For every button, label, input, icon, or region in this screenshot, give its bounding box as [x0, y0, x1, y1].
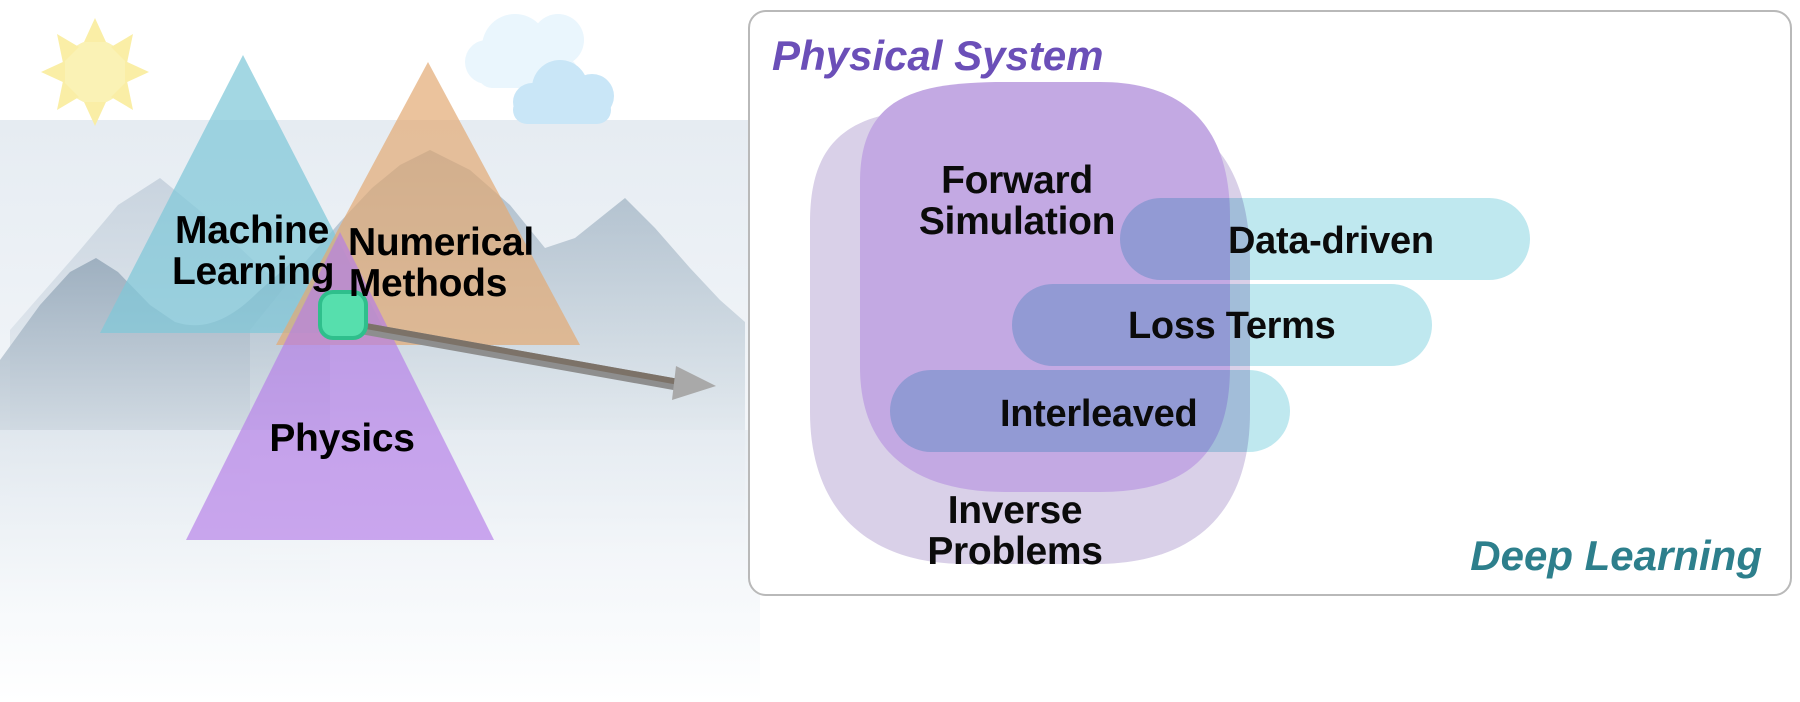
blob-label-forward-simulation: Forward Simulation — [902, 160, 1132, 243]
pill-label-interleaved: Interleaved — [1000, 395, 1197, 433]
physical-system-panel: Physical System Forward Simulation Inver… — [748, 10, 1792, 596]
pill-label-loss-terms: Loss Terms — [1128, 307, 1336, 345]
panel-title: Physical System — [772, 32, 1104, 80]
triangle-label-physics: Physics — [262, 418, 422, 459]
scene-canvas — [0, 0, 760, 702]
blob-label-inverse-problems: Inverse Problems — [900, 490, 1130, 573]
panel-canvas: Physical System Forward Simulation Inver… — [750, 12, 1790, 594]
sun-icon — [41, 18, 149, 126]
triangle-label-numerical-methods: Numerical Methods — [348, 222, 508, 305]
figure-root: Machine Learning Numerical Methods Physi… — [0, 0, 1800, 702]
nature-scene: Machine Learning Numerical Methods Physi… — [0, 0, 760, 702]
panel-footer-label: Deep Learning — [1470, 532, 1762, 580]
pill-label-data-driven: Data-driven — [1228, 222, 1434, 260]
triangle-label-machine-learning: Machine Learning — [172, 210, 332, 293]
